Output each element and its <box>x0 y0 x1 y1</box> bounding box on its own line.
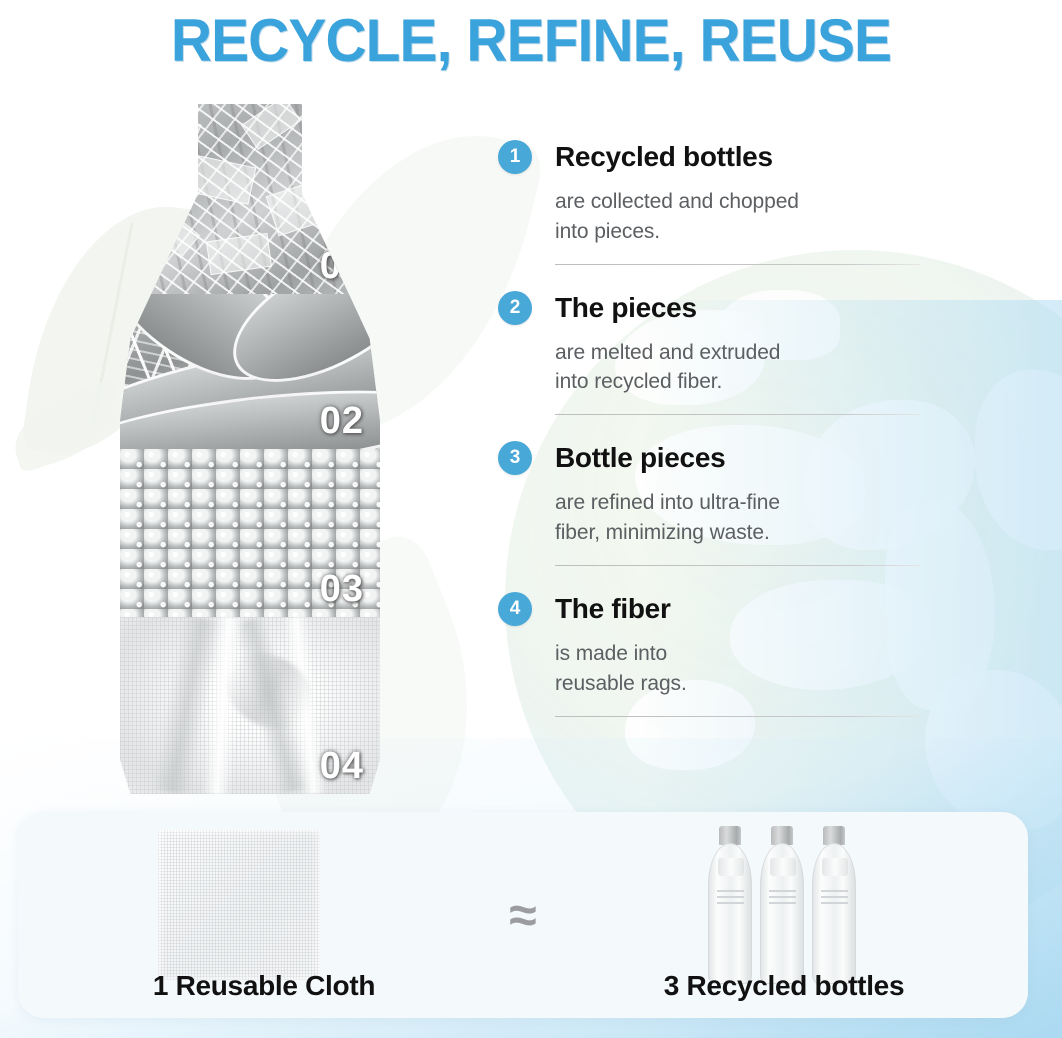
bottle-silhouette: 01 02 03 04 <box>120 104 380 794</box>
bottle-body <box>760 843 804 984</box>
bottle-segment-label-02: 02 <box>320 400 364 443</box>
step-divider-4 <box>555 716 920 717</box>
step-divider-3 <box>555 565 920 566</box>
step-body-line-1: is made into <box>555 639 938 669</box>
bottle-illustration: 01 02 03 04 <box>120 104 380 794</box>
step-title-1: Recycled bottles <box>555 143 773 171</box>
step-body-line-1: are refined into ultra-fine <box>555 488 938 518</box>
approximately-equal-symbol: ≈ <box>18 890 1028 940</box>
bottle-segment-04: 04 <box>120 617 380 794</box>
step-number-badge-1: 1 <box>498 140 532 174</box>
comparison-right-label: 3 Recycled bottles <box>614 970 954 1002</box>
step-title-2: The pieces <box>555 294 697 322</box>
mini-bottle <box>708 826 752 984</box>
step-number-badge-2: 2 <box>498 291 532 325</box>
bottle-segment-01: 01 <box>120 104 380 294</box>
step-body-line-2: reusable rags. <box>555 669 938 699</box>
page-title: RECYCLE, REFINE, REUSE <box>27 6 1036 75</box>
process-step-4: 4 The fiber is made into reusable rags. <box>498 592 938 717</box>
bottle-segment-label-03: 03 <box>320 568 364 611</box>
process-step-2: 2 The pieces are melted and extruded int… <box>498 291 938 416</box>
step-header: 1 Recycled bottles <box>498 140 938 174</box>
step-body-2: are melted and extruded into recycled fi… <box>555 338 938 398</box>
process-step-1: 1 Recycled bottles are collected and cho… <box>498 140 938 265</box>
step-body-3: are refined into ultra-fine fiber, minim… <box>555 488 938 548</box>
step-number-badge-4: 4 <box>498 592 532 626</box>
approx-glyph: ≈ <box>509 890 536 940</box>
step-header: 3 Bottle pieces <box>498 441 938 475</box>
step-body-line-2: into pieces. <box>555 217 938 247</box>
mini-bottle <box>760 826 804 984</box>
step-body-line-2: fiber, minimizing waste. <box>555 518 938 548</box>
step-title-3: Bottle pieces <box>555 444 725 472</box>
bottle-segment-02: 02 <box>120 294 380 449</box>
step-header: 2 The pieces <box>498 291 938 325</box>
step-title-4: The fiber <box>555 595 671 623</box>
bottle-body <box>812 843 856 984</box>
process-step-3: 3 Bottle pieces are refined into ultra-f… <box>498 441 938 566</box>
step-divider-1 <box>555 264 920 265</box>
leaf-watermark-small <box>3 379 132 474</box>
bottle-neck <box>770 858 796 876</box>
three-bottles-icon <box>708 826 858 984</box>
process-steps-list: 1 Recycled bottles are collected and cho… <box>498 140 938 717</box>
comparison-left-label: 1 Reusable Cloth <box>114 970 414 1002</box>
bottle-segment-label-04: 04 <box>320 745 364 788</box>
step-header: 4 The fiber <box>498 592 938 626</box>
step-body-4: is made into reusable rags. <box>555 639 938 699</box>
bottle-segment-label-01: 01 <box>320 245 364 288</box>
bottle-segment-03: 03 <box>120 449 380 617</box>
comparison-panel: ≈ <box>18 812 1028 1018</box>
step-body-1: are collected and chopped into pieces. <box>555 187 938 247</box>
step-body-line-1: are melted and extruded <box>555 338 938 368</box>
step-number-badge-3: 3 <box>498 441 532 475</box>
bottle-neck <box>718 858 744 876</box>
step-divider-2 <box>555 414 920 415</box>
step-body-line-1: are collected and chopped <box>555 187 938 217</box>
mini-bottle <box>812 826 856 984</box>
step-body-line-2: into recycled fiber. <box>555 367 938 397</box>
bottle-neck <box>822 858 848 876</box>
bottle-body <box>708 843 752 984</box>
